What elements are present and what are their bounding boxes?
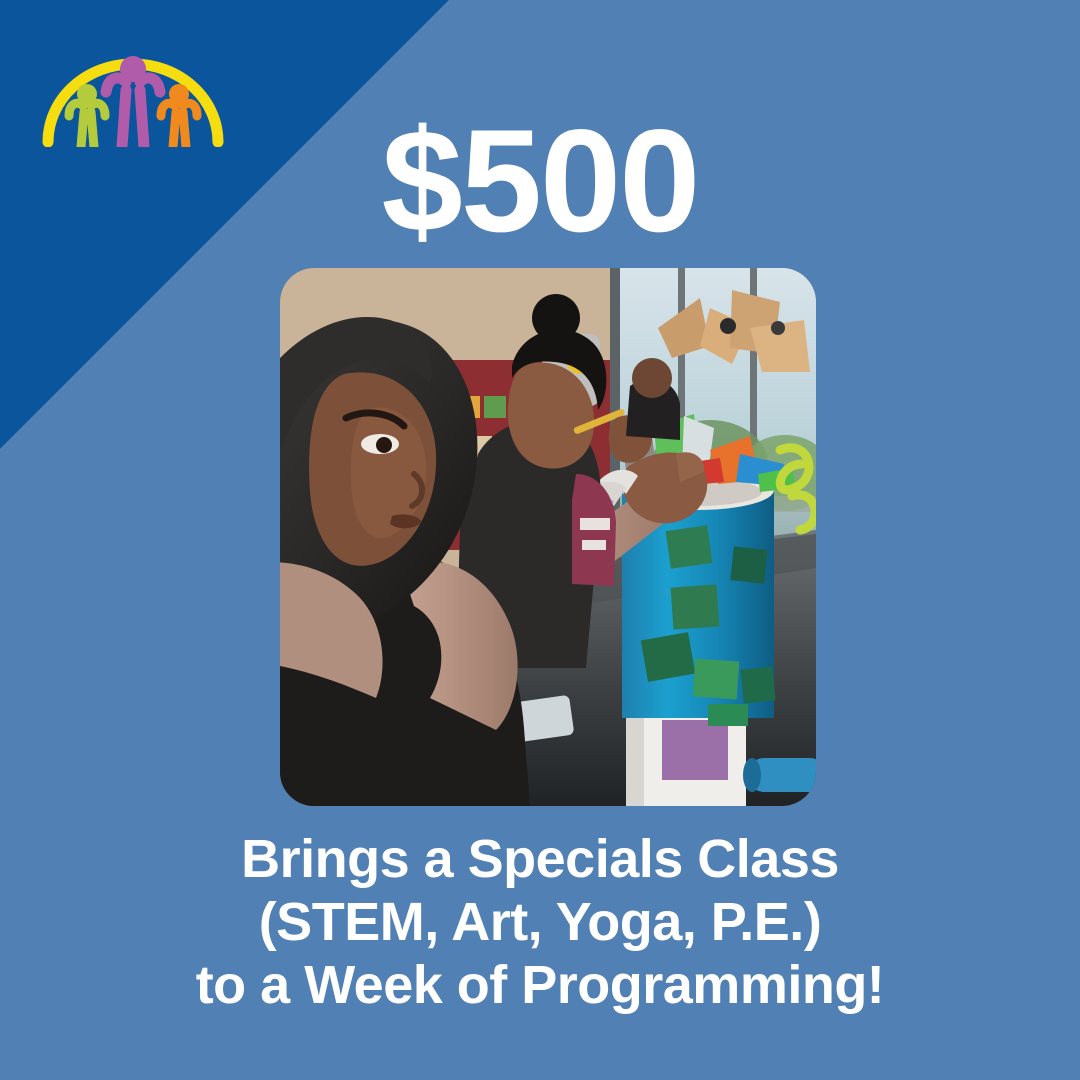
caption-line-2: (STEM, Art, Yoga, P.E.)	[40, 891, 1040, 954]
donation-impact-poster: $500	[0, 0, 1080, 1080]
caption-line-3: to a Week of Programming!	[40, 954, 1040, 1017]
figure-left-head	[77, 84, 97, 104]
blue-tube	[743, 758, 816, 792]
program-photo	[280, 268, 816, 806]
caption-line-1: Brings a Specials Class	[40, 828, 1040, 891]
figure-right-head	[169, 84, 189, 104]
price-headline: $500	[0, 108, 1080, 254]
figure-center-head	[120, 56, 146, 82]
caption-block: Brings a Specials Class (STEM, Art, Yoga…	[0, 828, 1080, 1018]
